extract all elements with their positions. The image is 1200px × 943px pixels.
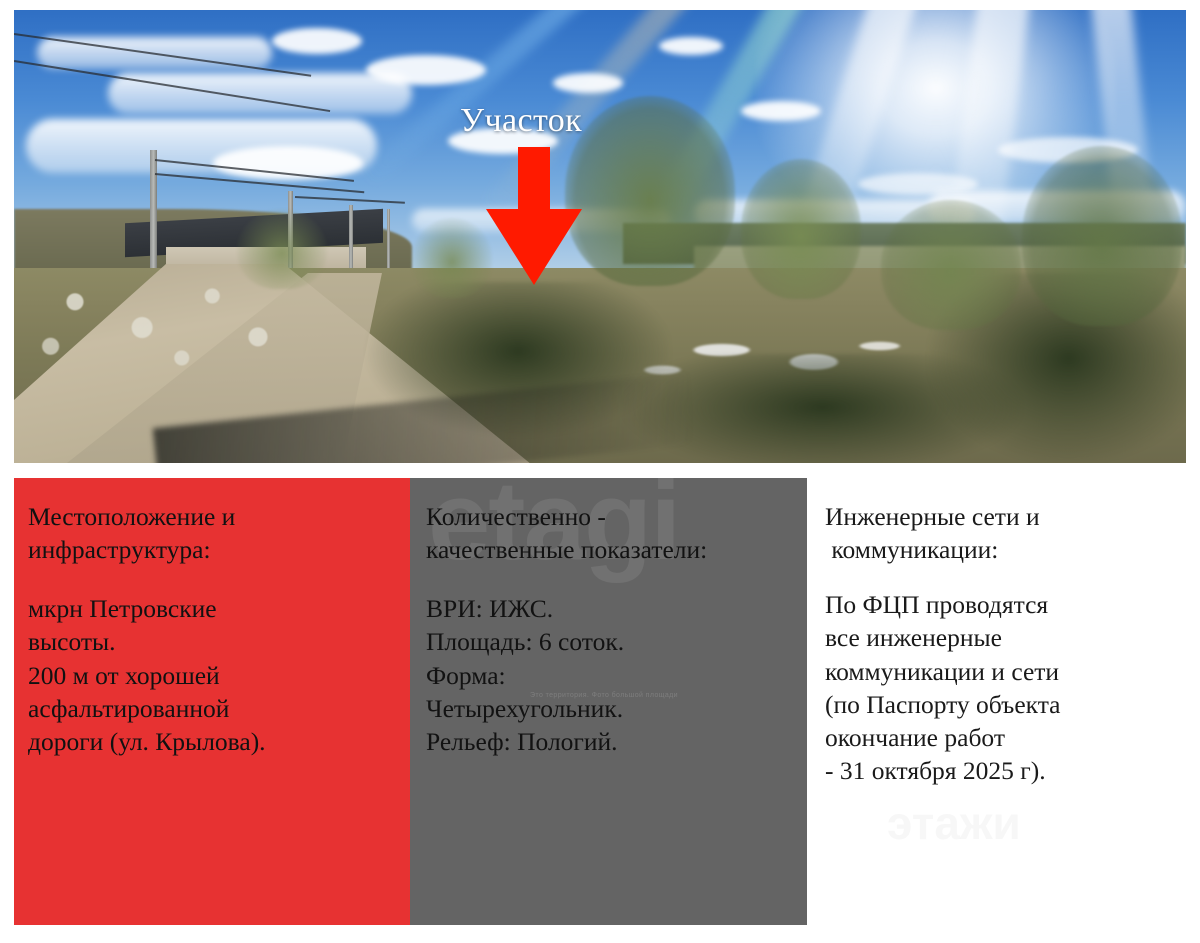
- bush: [565, 96, 735, 286]
- bush: [412, 218, 492, 298]
- cloud: [272, 28, 362, 54]
- panel-utilities-line-3: коммуникации и сети: [825, 655, 1172, 688]
- panel-location-line-3: 200 м от хорошей: [28, 659, 396, 692]
- utility-pole: [387, 209, 390, 272]
- bush: [741, 159, 861, 299]
- panel-location-heading-line-1: Местоположение и: [28, 500, 396, 533]
- panel-metrics-line-1: ВРИ: ИЖС.: [426, 592, 793, 625]
- property-photo[interactable]: Участок: [14, 10, 1186, 463]
- panel-utilities-heading-line-1: Инженерные сети и: [825, 500, 1172, 533]
- bush: [237, 209, 327, 289]
- cloud: [108, 73, 413, 114]
- panel-location-line-1: мкрн Петровские: [28, 592, 396, 625]
- panel-location-line-2: высоты.: [28, 625, 396, 658]
- faint-bottom-watermark: этажи: [887, 796, 1021, 850]
- panel-location-body: Местоположение и инфраструктура: мкрн Пе…: [14, 478, 410, 758]
- bush: [881, 200, 1021, 330]
- panel-location-line-4: асфальтированной: [28, 692, 396, 725]
- cloud: [366, 55, 486, 85]
- panel-metrics-line-5: Рельеф: Пологий.: [426, 725, 793, 758]
- panel-location: Местоположение и инфраструктура: мкрн Пе…: [14, 478, 410, 925]
- plot-pointer-arrow: [482, 147, 586, 287]
- panel-utilities-line-1: По ФЦП проводятся: [825, 588, 1172, 621]
- cloud: [659, 37, 723, 55]
- panel-metrics-line-4: Четырехугольник.: [426, 692, 793, 725]
- cloud: [741, 101, 821, 121]
- panel-metrics-heading-line-1: Количественно -: [426, 500, 793, 533]
- panel-metrics-line-3: Форма:: [426, 659, 793, 692]
- panel-utilities-line-4: (по Паспорту объекта: [825, 688, 1172, 721]
- panel-utilities-line-5: окончание работ: [825, 721, 1172, 754]
- panel-metrics-body: Количественно - качественные показатели:…: [410, 478, 807, 758]
- panel-utilities: этажи Инженерные сети и коммуникации: По…: [807, 478, 1186, 925]
- panel-utilities-line-6: - 31 октября 2025 г).: [825, 754, 1172, 787]
- panel-utilities-line-2: все инженерные: [825, 621, 1172, 654]
- listing-infographic: Участок Местоположение и инфраструктура:…: [0, 0, 1200, 943]
- panel-utilities-body: Инженерные сети и коммуникации: По ФЦП п…: [807, 478, 1186, 787]
- panel-location-heading-line-2: инфраструктура:: [28, 533, 396, 566]
- panel-metrics-line-2: Площадь: 6 соток.: [426, 625, 793, 658]
- bush: [1022, 146, 1182, 326]
- info-panels: Местоположение и инфраструктура: мкрн Пе…: [14, 478, 1186, 925]
- panel-metrics-heading-line-2: качественные показатели:: [426, 533, 793, 566]
- plot-label: Участок: [460, 102, 582, 140]
- panel-metrics: etagi Это территория. Фото большой площа…: [410, 478, 807, 925]
- panel-utilities-heading-line-2: коммуникации:: [825, 533, 1172, 566]
- panel-location-line-5: дороги (ул. Крылова).: [28, 725, 396, 758]
